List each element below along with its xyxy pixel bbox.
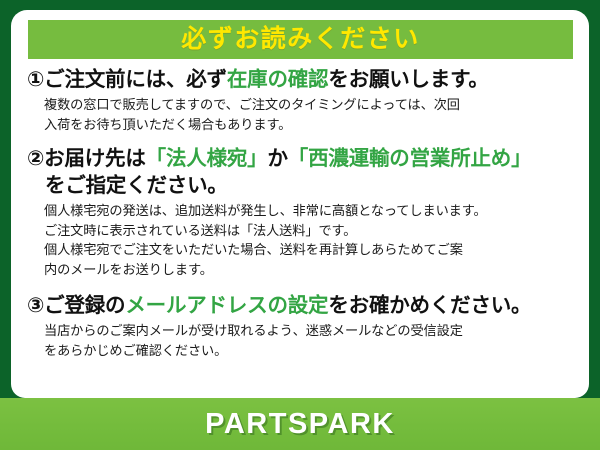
heading-text: ②お届け先は	[27, 147, 146, 170]
heading-accent-text: 「法人様宛」	[146, 147, 268, 170]
notice-item-3-body: 当店からのご案内メールが受け取れるよう、迷惑メールなどの受信設定 をあらかじめご…	[27, 321, 581, 360]
footer-bar: PARTSPARK	[0, 398, 600, 450]
brand-logo-text: PARTSPARK	[205, 410, 395, 439]
body-line: 内のメールをお送りします。	[44, 260, 581, 280]
heading-accent-text: メールアドレスの設定	[125, 294, 328, 317]
body-line: をあらかじめご確認ください。	[44, 341, 581, 361]
notice-item-2-body: 個人様宅宛の発送は、追加送料が発生し、非常に高額となってしまいます。 ご注文時に…	[27, 201, 581, 279]
white-panel: 必ずお読みください ①ご注文前には、必ず在庫の確認をお願いします。 複数の窓口で…	[11, 10, 589, 398]
body-line: 個人様宅宛でご注文をいただいた場合、送料を再計算しあらためてご案	[44, 240, 581, 260]
heading-text: をお確かめください。	[328, 294, 531, 317]
notice-item-1-body: 複数の窓口で販売してますので、ご注文のタイミングによっては、次回 入荷をお待ち頂…	[27, 95, 581, 134]
heading-accent-text: 在庫の確認	[227, 68, 329, 91]
heading-accent-text: 「西濃運輸の営業所止め」	[288, 147, 532, 170]
notice-item-2: ②お届け先は「法人様宛」か「西濃運輸の営業所止め」 をご指定ください。 個人様宅…	[27, 145, 581, 279]
heading-text: ③ご登録の	[27, 294, 125, 317]
notice-item-1: ①ご注文前には、必ず在庫の確認をお願いします。 複数の窓口で販売してますので、ご…	[27, 66, 581, 134]
notice-item-3: ③ご登録のメールアドレスの設定をお確かめください。 当店からのご案内メールが受け…	[27, 292, 581, 360]
notice-body: ①ご注文前には、必ず在庫の確認をお願いします。 複数の窓口で販売してますので、ご…	[11, 65, 589, 369]
body-line: 当店からのご案内メールが受け取れるよう、迷惑メールなどの受信設定	[44, 321, 581, 341]
notice-card: 必ずお読みください ①ご注文前には、必ず在庫の確認をお願いします。 複数の窓口で…	[0, 0, 600, 450]
heading-text: か	[267, 147, 287, 170]
header-bar: 必ずお読みください	[28, 20, 573, 59]
body-line: 個人様宅宛の発送は、追加送料が発生し、非常に高額となってしまいます。	[44, 201, 581, 221]
heading-second-line: をご指定ください。	[27, 172, 581, 199]
heading-text: ①ご注文前には、必ず	[27, 68, 227, 91]
page-title: 必ずお読みください	[181, 27, 420, 52]
heading-text: をお願いします。	[328, 68, 488, 91]
body-line: 複数の窓口で販売してますので、ご注文のタイミングによっては、次回	[44, 95, 581, 115]
notice-item-2-heading: ②お届け先は「法人様宛」か「西濃運輸の営業所止め」 をご指定ください。	[27, 145, 581, 199]
notice-item-1-heading: ①ご注文前には、必ず在庫の確認をお願いします。	[27, 66, 581, 93]
body-line: 入荷をお待ち頂いただく場合もあります。	[44, 115, 581, 135]
notice-item-3-heading: ③ご登録のメールアドレスの設定をお確かめください。	[27, 292, 581, 319]
body-line: ご注文時に表示されている送料は「法人送料」です。	[44, 221, 581, 241]
